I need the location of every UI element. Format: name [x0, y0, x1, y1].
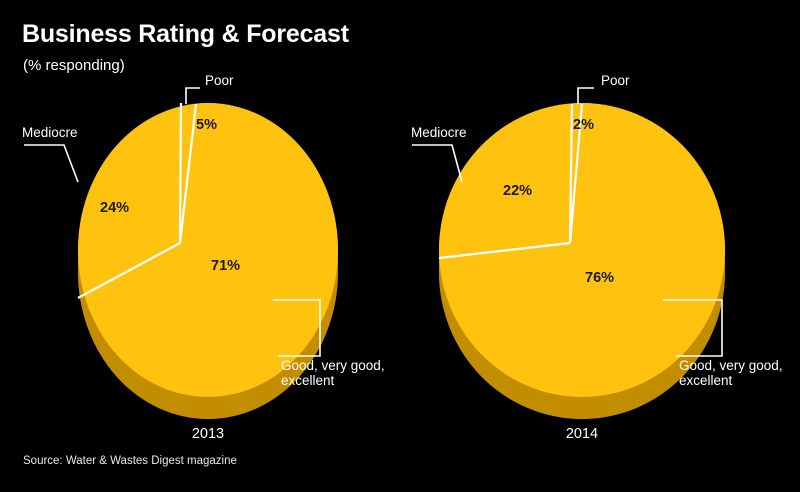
chart-page: Business Rating & Forecast (% responding…: [0, 0, 800, 492]
pie-2013-dividers: [78, 103, 196, 298]
page-title: Business Rating & Forecast: [22, 20, 349, 49]
pie-2013-mediocre-value: 24%: [100, 200, 129, 216]
pie-2014-year: 2014: [512, 426, 652, 442]
pie-2014-top: [439, 103, 725, 397]
pie-2013-good-value: 71%: [211, 258, 240, 274]
pie-2014-mediocre-label: Mediocre: [411, 125, 467, 140]
pie-2014-good-label: Good, very good, excellent: [679, 358, 783, 388]
pie-2014-poor-label: Poor: [601, 73, 630, 88]
pie-2013-top: [78, 103, 338, 397]
pie-2014-good-value: 76%: [585, 270, 614, 286]
bottom-divider: [0, 483, 800, 492]
source-note: Source: Water & Wastes Digest magazine: [23, 455, 237, 467]
pie-2013-good-label: Good, very good, excellent: [281, 358, 385, 388]
pie-2013-poor-label: Poor: [205, 73, 234, 88]
pie-2014-poor-value: 2%: [573, 117, 594, 133]
pie-2013-mediocre-label: Mediocre: [22, 125, 78, 140]
pie-2013-year: 2013: [138, 426, 278, 442]
page-subtitle: (% responding): [23, 57, 125, 74]
pie-2014-mediocre-value: 22%: [503, 183, 532, 199]
pie-2013-poor-value: 5%: [196, 117, 217, 133]
